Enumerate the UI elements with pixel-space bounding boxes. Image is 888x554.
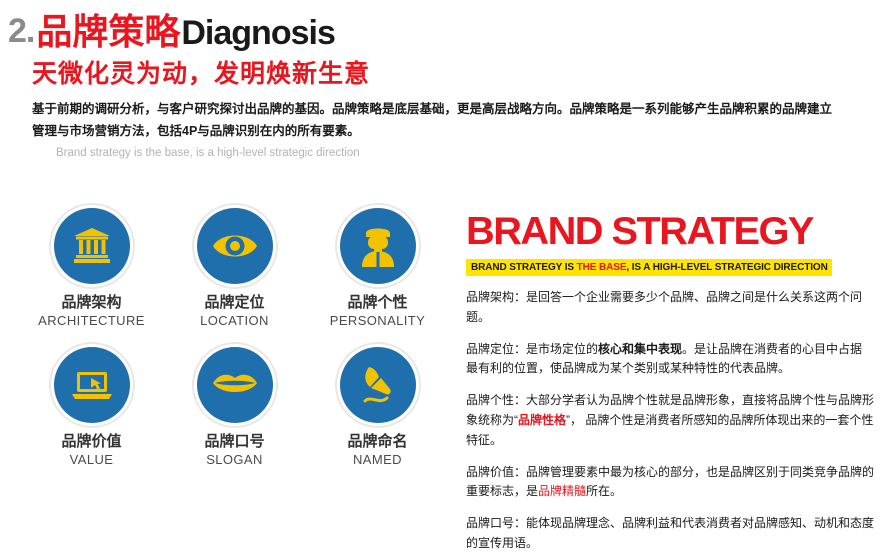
icon-cell-slogan[interactable]: 品牌口号 SLOGAN: [163, 347, 306, 469]
section-number: 2.: [8, 14, 34, 50]
icon-label-en: ARCHITECTURE: [20, 313, 163, 330]
brand-strategy-panel: BRAND STRATEGY BRAND STRATEGY IS THE BAS…: [466, 212, 874, 554]
page-description-en: Brand strategy is the base, is a high-le…: [0, 143, 888, 161]
icon-cell-location[interactable]: 品牌定位 LOCATION: [163, 208, 306, 330]
paragraph-text: 所在。: [586, 484, 622, 498]
lips-icon: [211, 371, 259, 399]
circle-badge: [54, 347, 130, 423]
eye-icon: [211, 229, 259, 263]
icon-cell-named[interactable]: 品牌命名 NAMED: [306, 347, 449, 469]
icon-cell-value[interactable]: 品牌价值 VALUE: [20, 347, 163, 469]
tagline-highlight: THE BASE: [577, 262, 627, 273]
circle-badge: [340, 347, 416, 423]
tagline-part3: , IS A HIGH-LEVEL STRATEGIC DIRECTION: [626, 262, 827, 273]
paragraph: 品牌架构：是回答一个企业需要多少个品牌、品牌之间是什么关系这两个问题。: [466, 288, 874, 328]
icon-label-en: NAMED: [306, 452, 449, 469]
emphasis-bold: 核心和集中表现: [598, 342, 682, 356]
paragraph: 品牌定位：是市场定位的核心和集中表现。是让品牌在消费者的心目中占据最有利的位置，…: [466, 340, 874, 380]
brand-strategy-paragraphs: 品牌架构：是回答一个企业需要多少个品牌、品牌之间是什么关系这两个问题。品牌定位：…: [466, 288, 874, 554]
icon-label-cn: 品牌个性: [306, 294, 449, 312]
paragraph-text: 品牌定位：是市场定位的: [466, 342, 598, 356]
emphasis-red-bold: 品牌性格: [518, 413, 566, 427]
icon-label-en: VALUE: [20, 452, 163, 469]
paragraph: 品牌口号：能体现品牌理念、品牌利益和代表消费者对品牌感知、动机和态度的宣传用语。: [466, 514, 874, 554]
page-description: 基于前期的调研分析，与客户研究探讨出品牌的基因。品牌策略是底层基础，更是高层战略…: [0, 87, 844, 143]
circle-badge: [197, 347, 273, 423]
circle-badge: [197, 208, 273, 284]
circle-badge: [54, 208, 130, 284]
person-icon: [358, 225, 398, 267]
icon-label-cn: 品牌定位: [163, 294, 306, 312]
icon-label-cn: 品牌架构: [20, 294, 163, 312]
brand-strategy-icon-grid: 品牌架构 ARCHITECTURE 品牌定位 LOCATION: [20, 208, 450, 486]
icon-label-cn: 品牌价值: [20, 433, 163, 451]
emphasis-red: 品牌精髓: [538, 484, 586, 498]
paragraph: 品牌价值：品牌管理要素中最为核心的部分，也是品牌区别于同类竞争品牌的重要标志，是…: [466, 463, 874, 503]
paragraph: 品牌个性：大部分学者认为品牌个性就是品牌形象，直接将品牌个性与品牌形象统称为“品…: [466, 391, 874, 450]
circle-badge: [340, 208, 416, 284]
paragraph-text: 品牌口号：能体现品牌理念、品牌利益和代表消费者对品牌感知、动机和态度的宣传用语。: [466, 516, 874, 550]
page-subtitle: 天微化灵为动，发明焕新生意: [0, 50, 888, 87]
icon-cell-personality[interactable]: 品牌个性 PERSONALITY: [306, 208, 449, 330]
icon-label-en: SLOGAN: [163, 452, 306, 469]
icon-label-en: LOCATION: [163, 313, 306, 330]
paragraph-text: 品牌价值：品牌管理要素中最为核心的部分，也是品牌区别于同类竞争品牌的重要标志，是: [466, 465, 874, 499]
pen-signature-icon: [359, 365, 397, 405]
page-title-cn: 品牌策略: [34, 14, 180, 50]
brand-strategy-wordmark: BRAND STRATEGY: [466, 212, 882, 251]
page-title-en: Diagnosis: [180, 16, 334, 50]
icon-cell-architecture[interactable]: 品牌架构 ARCHITECTURE: [20, 208, 163, 330]
paragraph-text: 品牌架构：是回答一个企业需要多少个品牌、品牌之间是什么关系这两个问题。: [466, 290, 862, 324]
page-header: 2. 品牌策略 Diagnosis 天微化灵为动，发明焕新生意 基于前期的调研分…: [0, 0, 888, 161]
bank-pillar-icon: [71, 226, 113, 266]
icon-label-cn: 品牌命名: [306, 433, 449, 451]
tagline-banner: BRAND STRATEGY IS THE BASE, IS A HIGH-LE…: [466, 259, 832, 276]
title-row: 2. 品牌策略 Diagnosis: [0, 0, 888, 50]
icon-label-en: PERSONALITY: [306, 313, 449, 330]
tagline-part1: BRAND STRATEGY IS: [471, 262, 577, 273]
icon-label-cn: 品牌口号: [163, 433, 306, 451]
laptop-hand-icon: [70, 367, 114, 403]
